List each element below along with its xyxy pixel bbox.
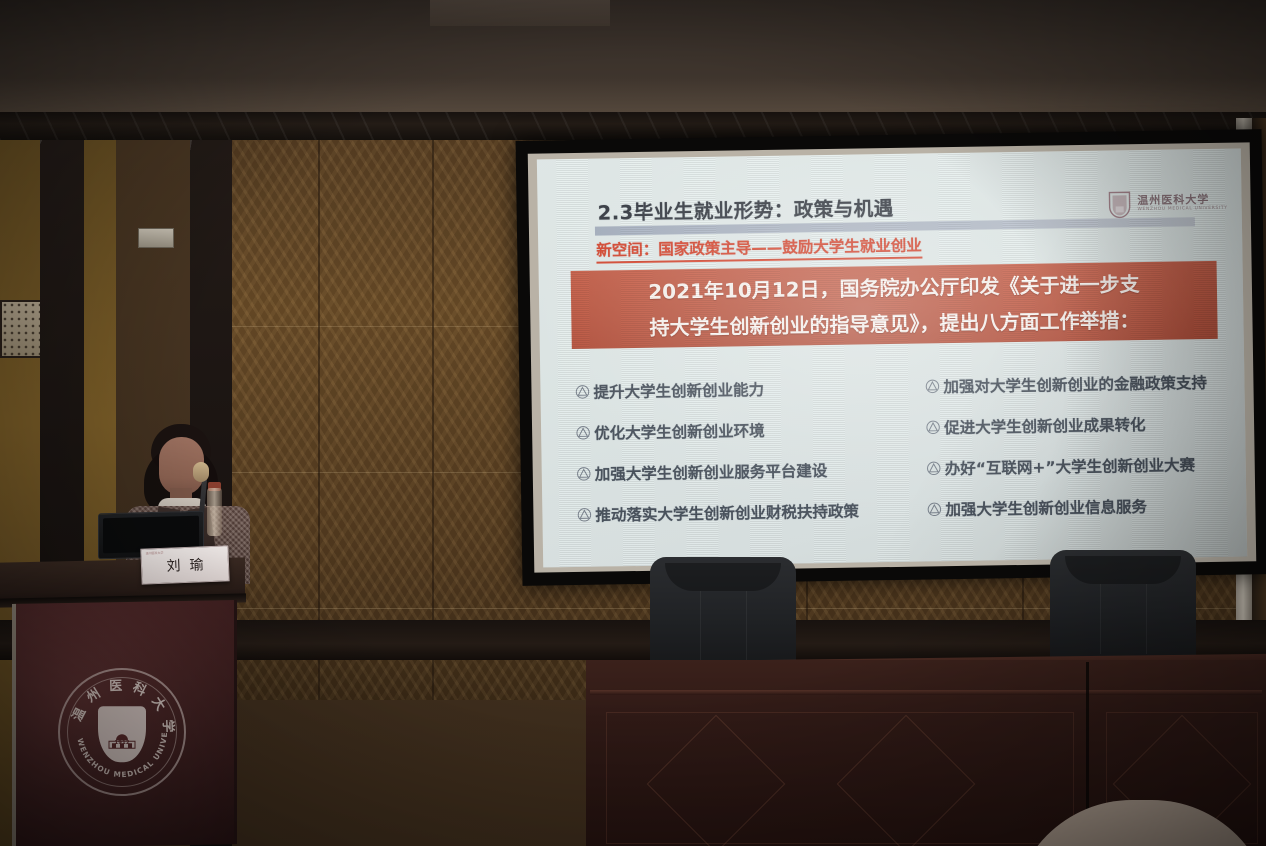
nameplate-name: 刘瑜: [157, 554, 213, 576]
diamond-motif: [837, 715, 976, 846]
water-bottle: [207, 488, 222, 536]
university-seal-icon: [1106, 190, 1132, 218]
list-item-label: 优化大学生创新创业环境: [594, 419, 765, 444]
conference-hall-photo: 2.3毕业生就业形势：政策与机遇 新空间：国家政策主导——鼓励大学生就业创业 2…: [0, 0, 1266, 846]
seal-text-en: WENZHOU MEDICAL UNIVERSITY: [60, 670, 184, 794]
nameplate-subtext: 温州医科大学: [145, 551, 163, 556]
list-item: 加强对大学生创新创业的金融政策支持: [924, 360, 1245, 406]
chair: [1050, 550, 1196, 660]
list-item: 优化大学生创新创业环境: [575, 406, 926, 452]
chair-seam: [1146, 584, 1147, 654]
triangle-circle-bullet-icon: [574, 383, 590, 399]
triangle-circle-bullet-icon: [576, 506, 592, 522]
slide-subtitle: 新空间：国家政策主导——鼓励大学生就业创业: [596, 234, 922, 264]
list-item-label: 加强对大学生创新创业的金融政策支持: [943, 371, 1207, 397]
triangle-circle-bullet-icon: [575, 424, 591, 440]
wood-seam-vertical: [318, 140, 320, 700]
list-item: 加强大学生创新创业服务平台建设: [575, 447, 926, 493]
table-panel: [606, 712, 1074, 844]
ceiling-vent: [430, 0, 610, 26]
chair-seam: [700, 591, 701, 661]
university-name-cn: 温州医科大学: [1137, 194, 1227, 206]
projection-screen-frame: 2.3毕业生就业形势：政策与机遇 新空间：国家政策主导——鼓励大学生就业创业 2…: [516, 129, 1266, 586]
list-item: 促进大学生创新创业成果转化: [925, 401, 1246, 447]
measures-columns: 提升大学生创新创业能力 优化大学生创新创业环境 加强: [574, 361, 1234, 371]
measures-left-column: 提升大学生创新创业能力 优化大学生创新创业环境 加强: [574, 365, 927, 534]
list-item-label: 加强大学生创新创业信息服务: [945, 495, 1147, 520]
university-logo: 温州医科大学 WENZHOU MEDICAL UNIVERSITY: [1106, 189, 1228, 219]
list-item: 提升大学生创新创业能力: [574, 365, 925, 411]
podium-university-seal: 1912 温州医科大学 WENZHOU MEDICAL UNIVERSITY: [58, 668, 186, 796]
presentation-slide: 2.3毕业生就业形势：政策与机遇 新空间：国家政策主导——鼓励大学生就业创业 2…: [537, 148, 1247, 567]
slide-title: 2.3毕业生就业形势：政策与机遇: [597, 192, 893, 226]
chair: [650, 557, 796, 667]
policy-banner: 2021年10月12日，国务院办公厅印发《关于进一步支 持大学生创新创业的指导意…: [571, 261, 1218, 349]
triangle-circle-bullet-icon: [926, 501, 942, 517]
speaker-nameplate: 温州医科大学 刘瑜: [140, 545, 229, 584]
list-item: 办好“互联网+”大学生创新创业大赛: [925, 442, 1246, 488]
chair-backrest-dip: [1065, 556, 1182, 584]
table-rail: [590, 690, 1262, 695]
measures-right-column: 加强对大学生创新创业的金融政策支持 促进大学生创新创业成果转化: [924, 360, 1247, 529]
chair-seam: [1100, 584, 1101, 654]
triangle-circle-bullet-icon: [926, 460, 942, 476]
triangle-circle-bullet-icon: [924, 378, 940, 394]
list-item-label: 促进大学生创新创业成果转化: [944, 413, 1146, 438]
chair-backrest-dip: [665, 563, 782, 591]
list-item-label: 加强大学生创新创业服务平台建设: [595, 459, 828, 485]
university-name-en: WENZHOU MEDICAL UNIVERSITY: [1137, 207, 1227, 213]
svg-text:WENZHOU MEDICAL UNIVERSITY: WENZHOU MEDICAL UNIVERSITY: [60, 670, 169, 779]
microphone-head: [193, 462, 209, 482]
list-item-label: 办好“互联网+”大学生创新创业大赛: [945, 453, 1196, 479]
list-item-label: 提升大学生创新创业能力: [593, 378, 764, 403]
projection-screen: 2.3毕业生就业形势：政策与机遇 新空间：国家政策主导——鼓励大学生就业创业 2…: [528, 142, 1256, 572]
list-item-label: 推动落实大学生创新创业财税扶持政策: [595, 499, 859, 525]
list-item: 推动落实大学生创新创业财税扶持政策: [576, 488, 927, 534]
chair-seam: [746, 591, 747, 661]
wall-outlet: [138, 228, 174, 248]
wood-seam-vertical: [432, 140, 434, 700]
triangle-circle-bullet-icon: [925, 419, 941, 435]
university-logo-text: 温州医科大学 WENZHOU MEDICAL UNIVERSITY: [1137, 194, 1227, 213]
triangle-circle-bullet-icon: [576, 465, 592, 481]
list-item: 加强大学生创新创业信息服务: [926, 483, 1247, 529]
diamond-motif: [647, 715, 786, 846]
